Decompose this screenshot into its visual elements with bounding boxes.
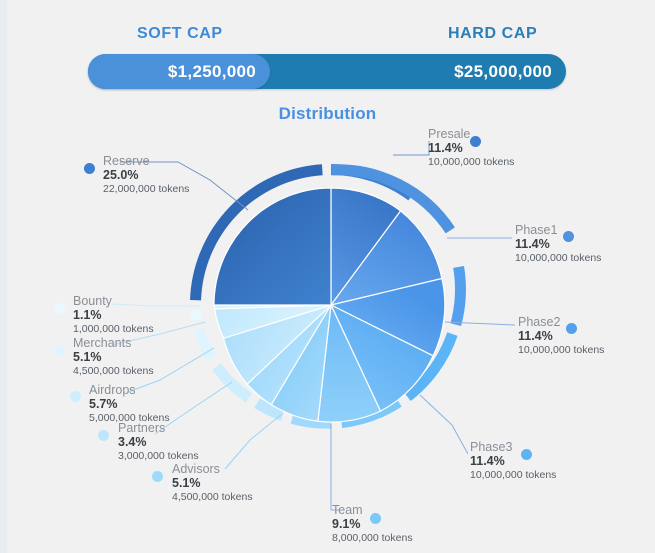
- callout-merchants-tokens: 4,500,000 tokens: [73, 365, 154, 378]
- callout-phase1: Phase1 11.4% 10,000,000 tokens: [515, 223, 601, 265]
- callout-phase2-tokens: 10,000,000 tokens: [518, 344, 604, 357]
- callout-team-dot: [370, 513, 381, 524]
- callout-phase3: Phase3 11.4% 10,000,000 tokens: [470, 440, 556, 482]
- callout-airdrops-tokens: 5,000,000 tokens: [89, 412, 170, 425]
- callout-advisors-dot: [152, 471, 163, 482]
- callout-phase1-dot: [563, 231, 574, 242]
- callout-reserve: Reserve 25.0% 22,000,000 tokens: [103, 154, 189, 196]
- callout-bounty-name: Bounty: [73, 294, 154, 308]
- callout-advisors: Advisors 5.1% 4,500,000 tokens: [172, 462, 253, 504]
- callout-phase3-name: Phase3: [470, 440, 556, 454]
- callout-reserve-pct: 25.0%: [103, 168, 189, 183]
- callout-advisors-name: Advisors: [172, 462, 253, 476]
- callout-phase3-dot: [521, 449, 532, 460]
- callout-bounty-pct: 1.1%: [73, 308, 154, 323]
- callout-team-tokens: 8,000,000 tokens: [332, 532, 413, 545]
- callout-merchants-dot: [54, 345, 65, 356]
- callout-phase1-tokens: 10,000,000 tokens: [515, 252, 601, 265]
- callout-airdrops-pct: 5.7%: [89, 397, 170, 412]
- callout-partners: Partners 3.4% 3,000,000 tokens: [118, 421, 199, 463]
- callout-bounty: Bounty 1.1% 1,000,000 tokens: [73, 294, 154, 336]
- infographic-page: SOFT CAP HARD CAP $25,000,000 $1,250,000…: [0, 0, 655, 553]
- callout-advisors-pct: 5.1%: [172, 476, 253, 491]
- callout-reserve-tokens: 22,000,000 tokens: [103, 183, 189, 196]
- callout-phase2: Phase2 11.4% 10,000,000 tokens: [518, 315, 604, 357]
- callout-merchants: Merchants 5.1% 4,500,000 tokens: [73, 336, 154, 378]
- callout-partners-tokens: 3,000,000 tokens: [118, 450, 199, 463]
- callout-team: Team 9.1% 8,000,000 tokens: [332, 503, 413, 545]
- callout-phase1-pct: 11.4%: [515, 237, 601, 252]
- callout-reserve-name: Reserve: [103, 154, 189, 168]
- callout-phase3-pct: 11.4%: [470, 454, 556, 469]
- callout-presale-dot: [470, 136, 481, 147]
- callout-phase2-dot: [566, 323, 577, 334]
- callout-advisors-tokens: 4,500,000 tokens: [172, 491, 253, 504]
- distribution-pie-chart: [0, 0, 655, 553]
- callout-presale-tokens: 10,000,000 tokens: [428, 156, 514, 169]
- callout-partners-pct: 3.4%: [118, 435, 199, 450]
- callout-presale: Presale 11.4% 10,000,000 tokens: [428, 127, 514, 169]
- callout-airdrops: Airdrops 5.7% 5,000,000 tokens: [89, 383, 170, 425]
- pie-slices: [214, 188, 445, 422]
- callout-phase2-name: Phase2: [518, 315, 604, 329]
- callout-merchants-pct: 5.1%: [73, 350, 154, 365]
- callout-phase3-tokens: 10,000,000 tokens: [470, 469, 556, 482]
- callout-merchants-name: Merchants: [73, 336, 154, 350]
- callout-bounty-dot: [54, 303, 65, 314]
- callout-airdrops-name: Airdrops: [89, 383, 170, 397]
- callout-bounty-tokens: 1,000,000 tokens: [73, 323, 154, 336]
- callout-phase1-name: Phase1: [515, 223, 601, 237]
- callout-reserve-dot: [84, 163, 95, 174]
- callout-partners-dot: [98, 430, 109, 441]
- callout-phase2-pct: 11.4%: [518, 329, 604, 344]
- callout-airdrops-dot: [70, 391, 81, 402]
